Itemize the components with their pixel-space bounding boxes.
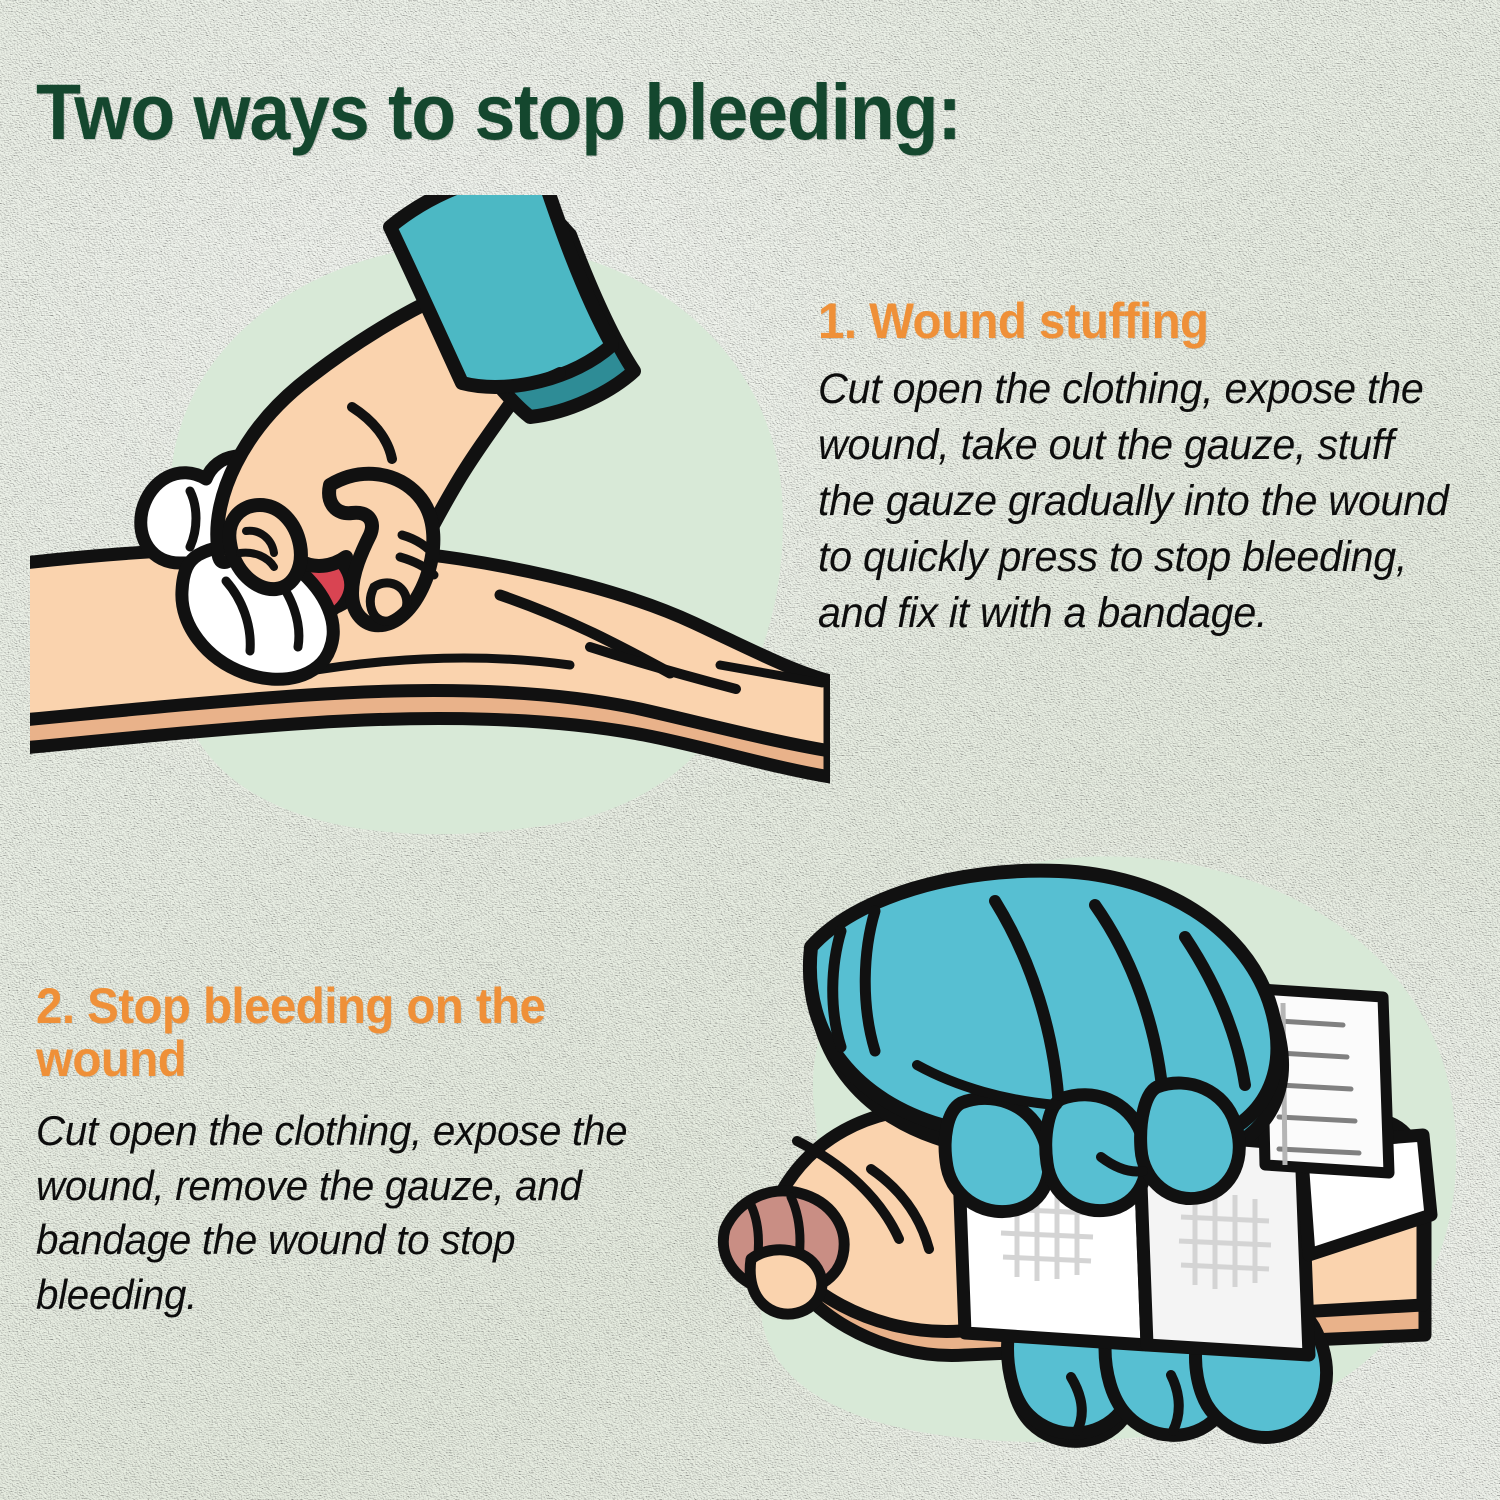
step-1-text-block: 1. Wound stuffing Cut open the clothing,… [818, 295, 1478, 641]
step-1-heading: 1. Wound stuffing [818, 295, 1445, 348]
wound-stuffing-illustration [30, 195, 830, 885]
page-title: Two ways to stop bleeding: [36, 66, 961, 158]
bandaging-illustration [665, 835, 1500, 1475]
step-2-body: Cut open the clothing, expose the wound,… [36, 1104, 681, 1322]
step-2-text-block: 2. Stop bleeding on the wound Cut open t… [36, 980, 708, 1322]
poster-canvas: Two ways to stop bleeding: [0, 0, 1500, 1500]
step-1-body: Cut open the clothing, expose the wound,… [818, 362, 1452, 641]
step-2-heading: 2. Stop bleeding on the wound [36, 980, 674, 1086]
